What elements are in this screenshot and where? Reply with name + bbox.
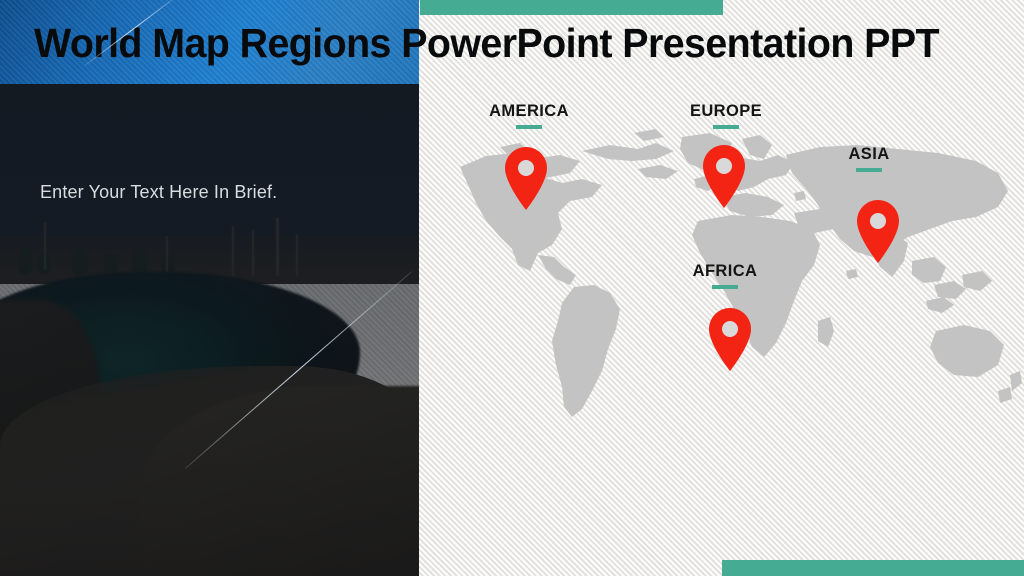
bottom-accent-bar <box>722 560 1024 576</box>
region-label-asia-text: ASIA <box>826 146 912 163</box>
world-map-container: AMERICA EUROPE ASIA AFRICA <box>420 0 1024 576</box>
top-accent-bar <box>420 0 723 15</box>
map-pin-africa[interactable] <box>709 308 751 376</box>
map-pin-america[interactable] <box>505 147 547 215</box>
region-label-america[interactable]: AMERICA <box>466 103 592 129</box>
photo-dark-overlay <box>0 0 419 576</box>
landscape-photo <box>0 0 419 576</box>
region-label-asia[interactable]: ASIA <box>826 146 912 172</box>
region-label-america-rule <box>516 125 542 129</box>
region-label-asia-rule <box>856 168 882 172</box>
region-label-europe-text: EUROPE <box>670 103 782 120</box>
region-label-america-text: AMERICA <box>466 103 592 120</box>
region-label-africa-rule <box>712 285 738 289</box>
region-label-africa-text: AFRICA <box>672 263 778 280</box>
body-text: Enter Your Text Here In Brief. <box>40 182 277 203</box>
region-label-africa[interactable]: AFRICA <box>672 263 778 289</box>
presentation-slide: AMERICA EUROPE ASIA AFRICA <box>0 0 1024 576</box>
map-pin-europe[interactable] <box>703 145 745 213</box>
region-label-europe[interactable]: EUROPE <box>670 103 782 129</box>
left-image-panel: Enter Your Text Here In Brief. <box>0 0 419 576</box>
map-pin-asia[interactable] <box>857 200 899 268</box>
page-title: World Map Regions PowerPoint Presentatio… <box>34 14 956 72</box>
region-label-europe-rule <box>713 125 739 129</box>
